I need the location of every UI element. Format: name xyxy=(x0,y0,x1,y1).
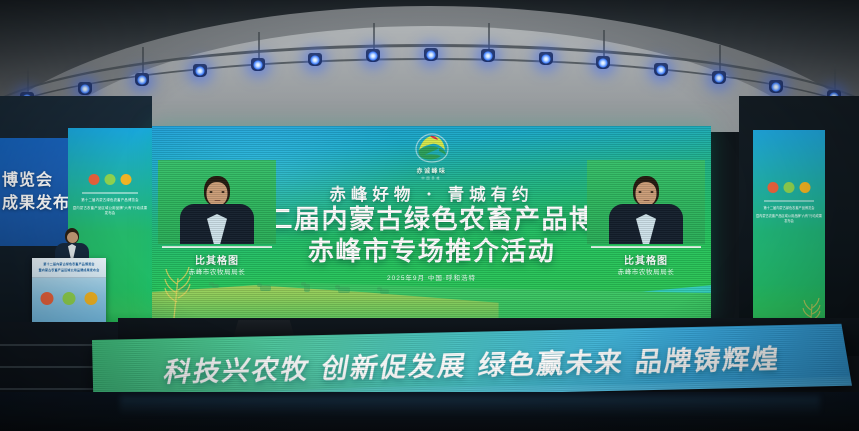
stage-light xyxy=(596,56,610,69)
right-panel-line2: 暨内蒙古农畜产品区域公用品牌"六有"行动成果发布会 xyxy=(755,214,823,225)
stage-light xyxy=(193,64,207,77)
left-side-screen-rule xyxy=(82,192,138,194)
left-banner-line1: 博览会 xyxy=(2,169,68,192)
speaker-face xyxy=(67,232,78,243)
livestock-silhouette xyxy=(260,285,271,291)
stage-light xyxy=(251,58,265,71)
logo-mark-green-icon xyxy=(105,174,116,185)
presenter-role-right: 赤峰市农牧局局长 xyxy=(587,266,705,276)
left-side-screen-logos xyxy=(89,174,132,185)
right-logo-green-icon xyxy=(784,182,795,193)
logo-mark-red-icon xyxy=(89,174,100,185)
presenter-face xyxy=(636,182,657,206)
presenter-name-right: 比其格图 xyxy=(587,252,705,267)
podium-logo-green-icon xyxy=(63,292,76,305)
right-panel-rule xyxy=(764,200,814,202)
presenter-inset-right: 比其格图 赤峰市农牧局局长 xyxy=(587,160,705,278)
presenter-divider-right xyxy=(591,246,701,248)
presenter-video-left xyxy=(158,160,276,244)
presenter-role-left: 赤峰市农牧局局长 xyxy=(158,266,276,276)
stage-light xyxy=(424,48,438,61)
podium-header: 第十二届内蒙古绿色农畜产品博览会 暨内蒙古农畜产品区域公用品牌成果发布会 xyxy=(32,258,106,278)
left-side-screen-line1: 第十二届内蒙古绿色农畜产品博览会 xyxy=(71,198,149,203)
podium-logos xyxy=(41,292,98,305)
stage-light xyxy=(769,80,783,93)
right-panel-logos xyxy=(768,182,811,193)
stage-light xyxy=(366,49,380,62)
right-side-panel: 第十二届内蒙古绿色农畜产品博览会 暨内蒙古农畜产品区域公用品牌"六有"行动成果发… xyxy=(753,130,825,342)
presenter-video-right xyxy=(587,160,705,244)
livestock-silhouette xyxy=(380,289,389,294)
stage-light xyxy=(712,71,726,84)
stage-light xyxy=(78,82,92,95)
livestock-silhouette xyxy=(338,287,350,293)
stage-light xyxy=(135,73,149,86)
presenter-face xyxy=(207,182,228,206)
podium-logo-gold-icon xyxy=(85,292,98,305)
presenter-inset-left: 比其格图 赤峰市农牧局局长 xyxy=(158,160,276,278)
livestock-silhouette xyxy=(304,284,310,292)
stage-light xyxy=(481,49,495,62)
emblem-wordmark: 赤诚峰味 xyxy=(403,166,461,175)
floor-reflection xyxy=(120,396,820,416)
stage-scene: 博览会 成果发布会 第十二届内蒙古绿色农畜产品博览会 暨内蒙古农畜产品区域公用品… xyxy=(0,0,859,431)
podium-logo-red-icon xyxy=(41,292,54,305)
podium: 第十二届内蒙古绿色农畜产品博览会 暨内蒙古农畜产品区域公用品牌成果发布会 xyxy=(32,258,106,322)
event-emblem: 赤诚峰味 中国赤峰 xyxy=(403,132,461,180)
podium-line2: 暨内蒙古农畜产品区域公用品牌成果发布会 xyxy=(39,268,100,273)
left-side-screen-line2: 暨内蒙古农畜产品区域公用品牌"六有"行动成果发布会 xyxy=(71,206,149,217)
right-panel-line1: 第十二届内蒙古绿色农畜产品博览会 xyxy=(755,206,823,211)
presenter-name-left: 比其格图 xyxy=(158,252,276,267)
livestock-silhouette xyxy=(212,284,219,288)
emblem-sub-wordmark: 中国赤峰 xyxy=(403,176,461,180)
right-logo-gold-icon xyxy=(800,182,811,193)
presenter-divider-left xyxy=(162,246,272,248)
stage-light xyxy=(308,53,322,66)
left-banner-line2: 成果发布会 xyxy=(2,192,68,215)
stage-light xyxy=(539,52,553,65)
right-logo-red-icon xyxy=(768,182,779,193)
logo-mark-gold-icon xyxy=(121,174,132,185)
main-led-screen: 赤诚峰味 中国赤峰 赤峰好物 · 青城有约 第十二届内蒙古绿色农畜产品博览会 赤… xyxy=(152,126,711,318)
stage-light xyxy=(654,63,668,76)
emblem-mark-icon xyxy=(413,132,451,164)
podium-body xyxy=(32,278,106,322)
